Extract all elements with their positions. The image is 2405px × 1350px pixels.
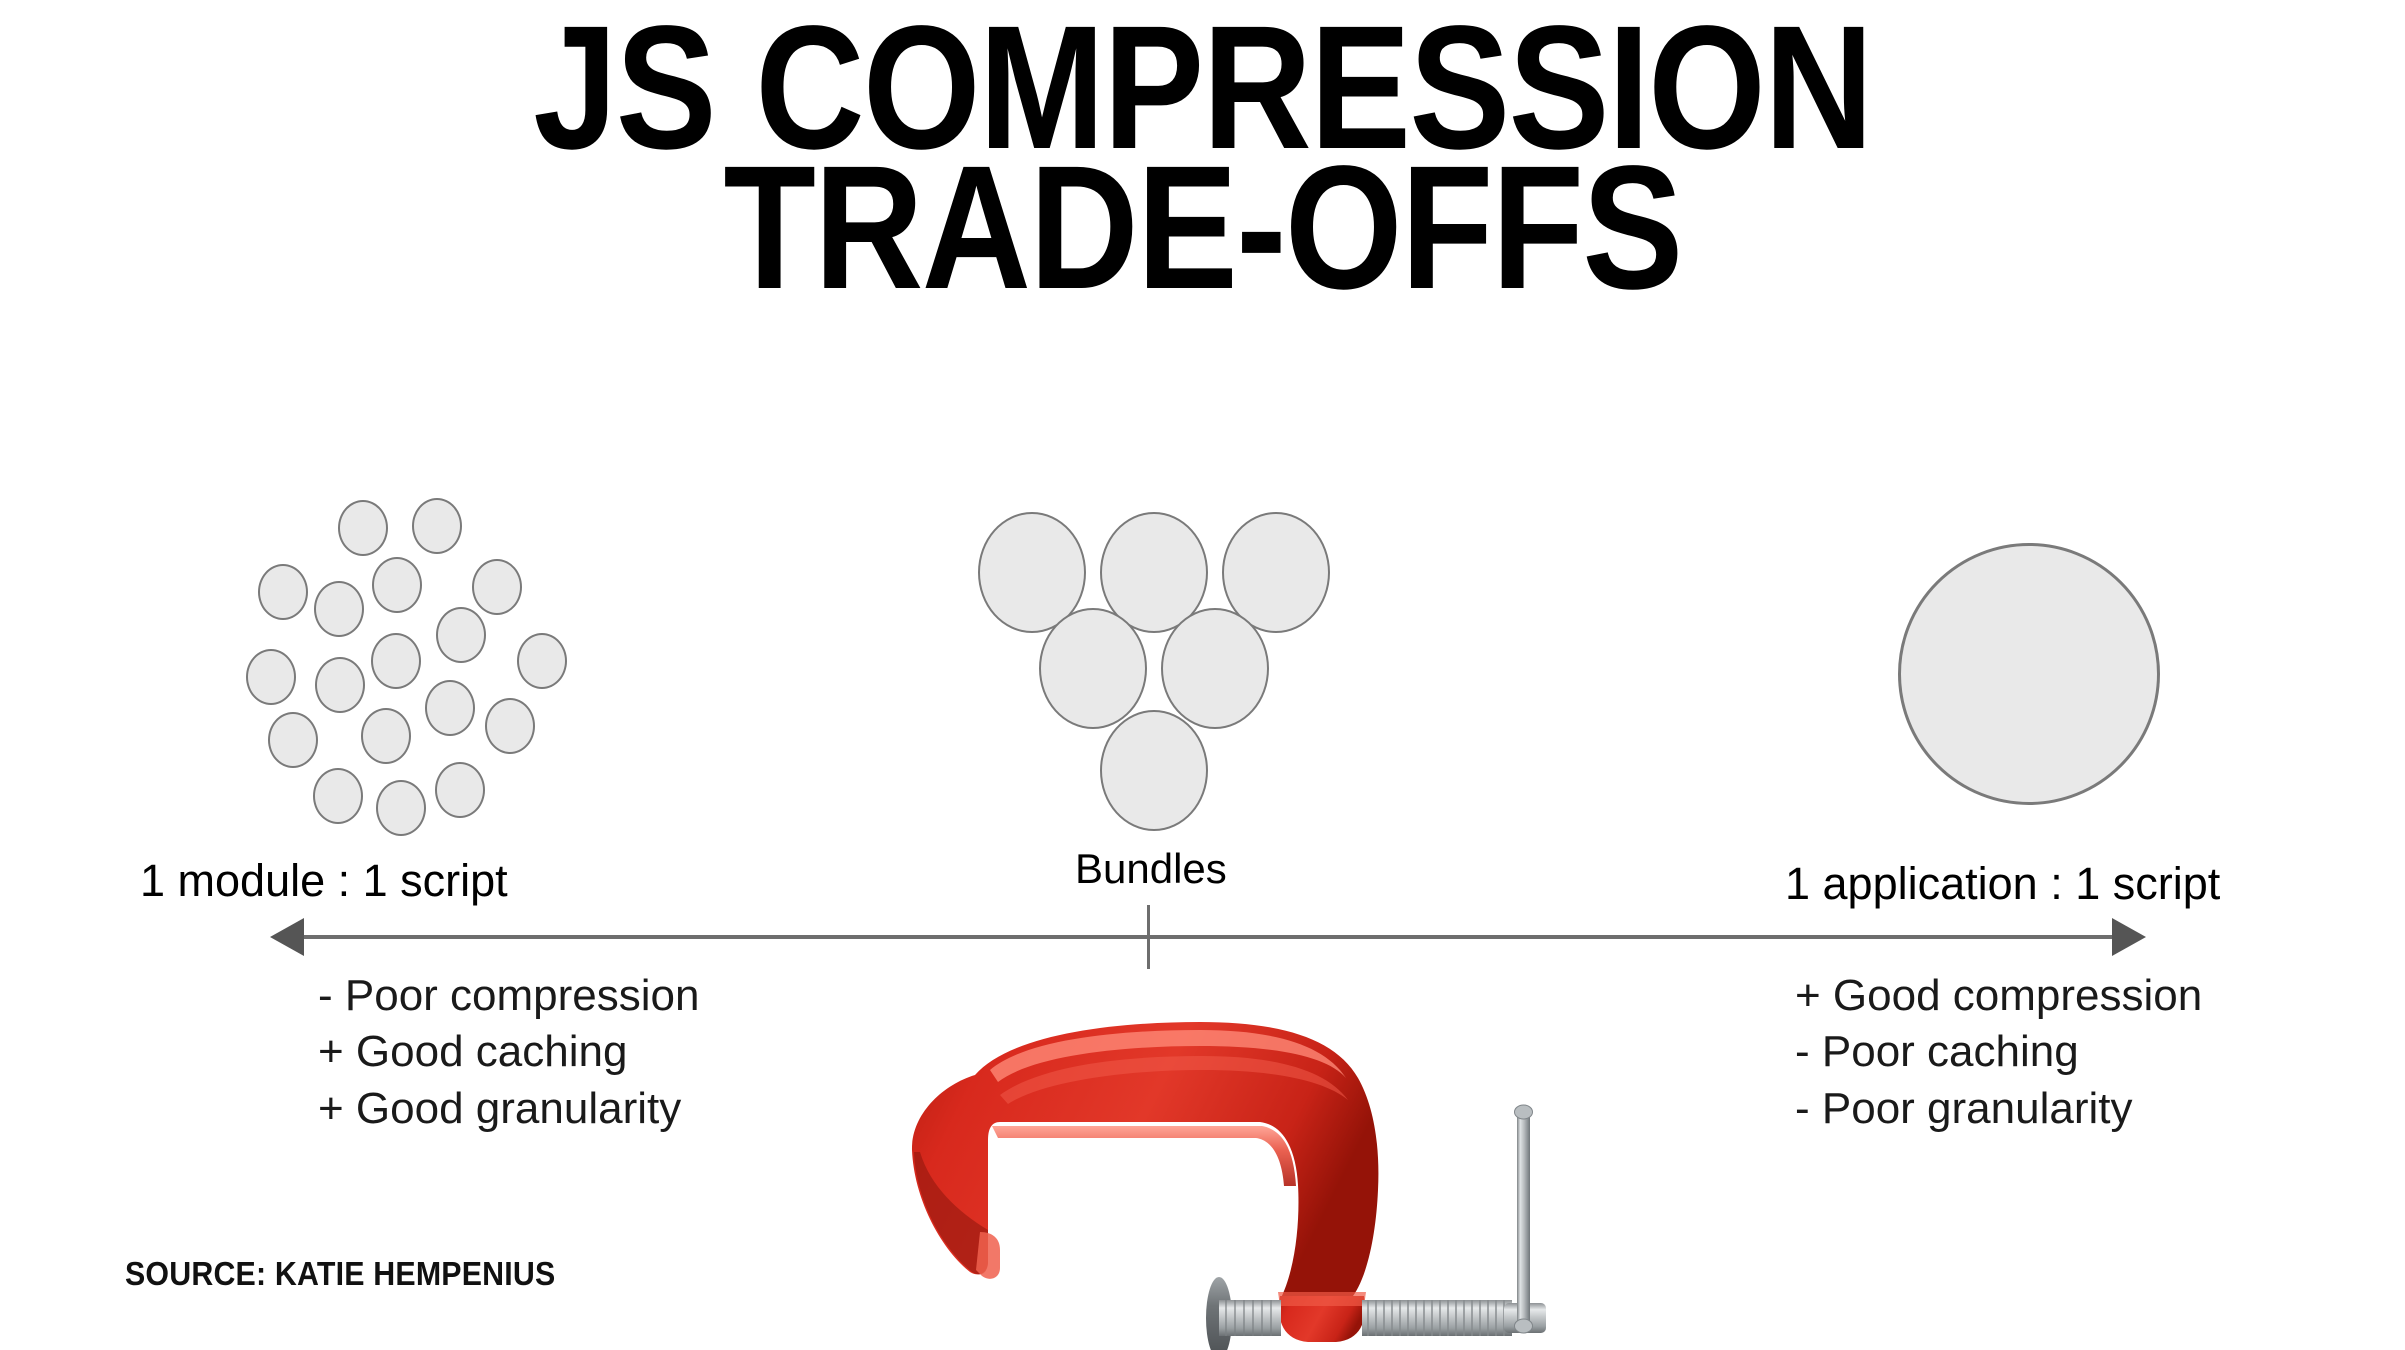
page-title-line-2: TRADE-OFFS <box>168 148 2236 310</box>
module-circle <box>371 633 421 689</box>
tradeoff-list-left: - Poor compression + Good caching + Good… <box>318 968 699 1137</box>
module-circle <box>372 557 422 613</box>
module-circle <box>268 712 318 768</box>
module-circle <box>338 500 388 556</box>
module-circle <box>313 768 363 824</box>
bundle-circle <box>1039 608 1147 729</box>
c-clamp-illustration <box>880 1000 1580 1350</box>
bundle-circle <box>1100 710 1208 831</box>
axis-arrowhead-left-icon <box>270 918 304 956</box>
module-circle <box>315 657 365 713</box>
cluster-many-modules <box>180 478 580 838</box>
clamp-handle-bar <box>1515 1105 1533 1333</box>
tradeoff-item: - Poor compression <box>318 968 699 1024</box>
module-circle <box>246 649 296 705</box>
axis-line <box>300 935 2125 939</box>
tradeoff-list-right: + Good compression - Poor caching - Poor… <box>1795 968 2202 1137</box>
cluster-bundles <box>978 512 1338 832</box>
tradeoff-item: + Good granularity <box>318 1081 699 1137</box>
tradeoff-item: + Good compression <box>1795 968 2202 1024</box>
clamp-anvil-pad <box>1206 1277 1281 1350</box>
module-circle <box>376 780 426 836</box>
slide-canvas: JS COMPRESSION TRADE-OFFS 1 module : 1 s… <box>0 0 2405 1350</box>
module-circle <box>436 607 486 663</box>
module-circle <box>258 564 308 620</box>
module-circle <box>517 633 567 689</box>
module-circle <box>425 680 475 736</box>
source-credit: SOURCE: KATIE HEMPENIUS <box>125 1255 555 1293</box>
axis-label-middle: Bundles <box>1075 845 1227 893</box>
tradeoff-item: - Poor granularity <box>1795 1081 2202 1137</box>
axis-label-right: 1 application : 1 script <box>1785 858 2220 910</box>
cluster-single-bundle <box>1898 543 2168 813</box>
axis-arrowhead-right-icon <box>2112 918 2146 956</box>
page-title: JS COMPRESSION TRADE-OFFS <box>168 8 2236 310</box>
bundle-circle <box>1161 608 1269 729</box>
tradeoff-item: + Good caching <box>318 1024 699 1080</box>
module-circle <box>314 581 364 637</box>
module-circle <box>485 698 535 754</box>
axis-midpoint-tick <box>1147 905 1150 969</box>
application-circle <box>1898 543 2160 805</box>
module-circle <box>361 708 411 764</box>
tradeoff-item: - Poor caching <box>1795 1024 2202 1080</box>
axis-label-left: 1 module : 1 script <box>140 855 508 907</box>
clamp-body <box>912 1022 1378 1342</box>
module-circle <box>435 762 485 818</box>
module-circle <box>472 559 522 615</box>
module-circle <box>412 498 462 554</box>
